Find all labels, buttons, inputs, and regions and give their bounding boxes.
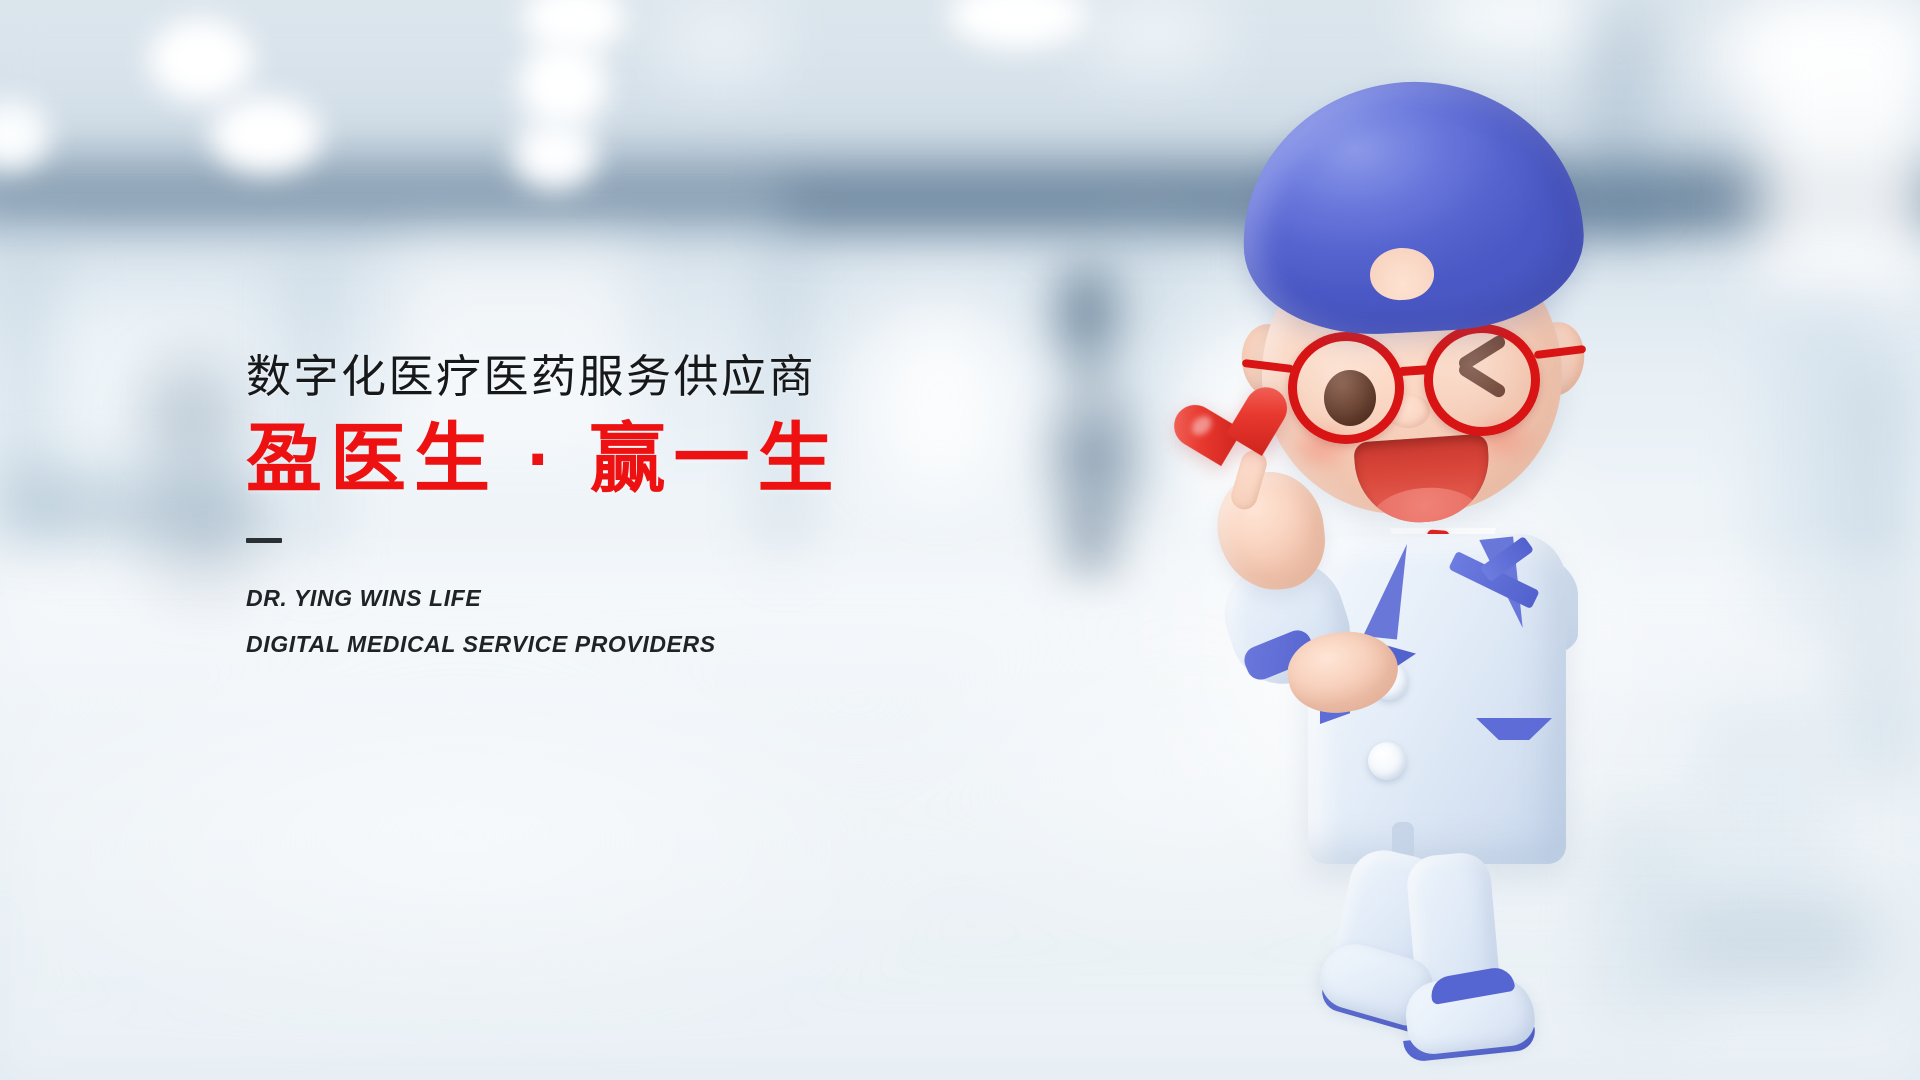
hero-subtitle-line-2: DIGITAL MEDICAL SERVICE PROVIDERS [246, 633, 966, 656]
hero-banner: 数字化医疗医药服务供应商 盈医生 · 赢一生 DR. YING WINS LIF… [0, 0, 1920, 1080]
title-divider [246, 538, 282, 543]
ceiling-light-bokeh [518, 42, 608, 128]
mascot-glasses-lens-right [1424, 324, 1540, 436]
doctor-mascot [1180, 42, 1680, 1042]
mascot-hair [1236, 73, 1589, 340]
mascot-mouth [1353, 433, 1493, 526]
ceiling-light-bokeh [512, 118, 598, 190]
ceiling-light-bokeh [148, 18, 254, 102]
counter-silhouette [0, 470, 260, 540]
hero-main-title: 盈医生 · 赢一生 [246, 418, 966, 502]
mascot-coat-button [1368, 742, 1406, 780]
mascot-glasses-lens-left [1288, 332, 1404, 444]
mascot-tongue [1369, 484, 1483, 526]
hero-headline: 数字化医疗医药服务供应商 [246, 352, 966, 402]
ceiling-light-bokeh [660, 10, 780, 72]
ceiling-light-bokeh [210, 96, 322, 174]
wall-panel [1758, 0, 1920, 300]
hero-subtitle-line-1: DR. YING WINS LIFE [246, 587, 966, 610]
hero-text-block: 数字化医疗医药服务供应商 盈医生 · 赢一生 DR. YING WINS LIF… [246, 352, 966, 656]
hero-subtitle-group: DR. YING WINS LIFE DIGITAL MEDICAL SERVI… [246, 587, 966, 656]
